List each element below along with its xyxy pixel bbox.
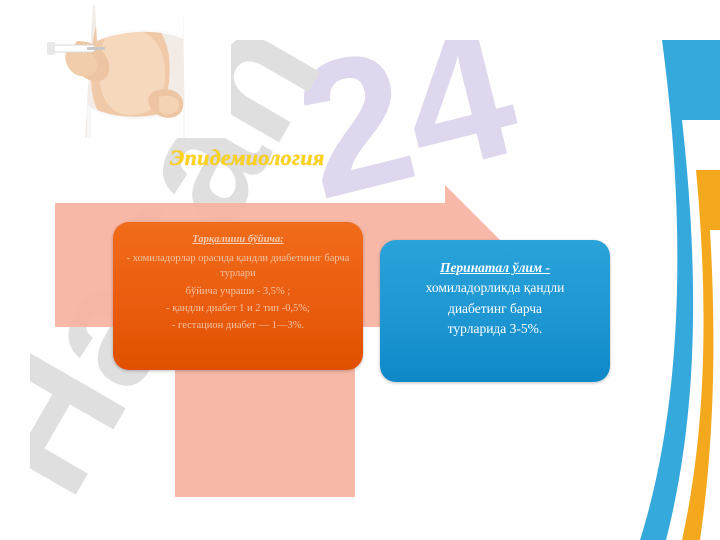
blue-line-1: Перинатал ўлим - <box>392 258 598 278</box>
orange-line-2: - хомиладорлар орасида қандли диабетнинг… <box>121 251 355 281</box>
orange-line-1: Тарқалиши бўйича: <box>121 232 355 247</box>
pregnancy-insulin-photo <box>33 5 231 138</box>
slide-canvas: 24 Hasan <box>0 0 720 540</box>
orange-line-3: бўйича учраши - 3,5% ; <box>121 284 355 299</box>
blue-line-2: хомиладорликда қандли <box>392 278 598 298</box>
page-title: Эпидемиология <box>170 145 325 171</box>
prevalence-callout-orange: Тарқалиши бўйича: - хомиладорлар орасида… <box>113 222 363 370</box>
orange-line-4: - қандли диабет 1 и 2 тип -0,5%; <box>121 301 355 316</box>
blue-line-4: турларида 3-5%. <box>392 319 598 339</box>
svg-text:24: 24 <box>279 40 535 240</box>
perinatal-mortality-callout-blue: Перинатал ўлим - хомиладорликда қандли д… <box>380 240 610 382</box>
blue-line-3: диабетинг барча <box>392 299 598 319</box>
orange-line-5: - гестацион диабет — 1—3%. <box>121 318 355 333</box>
